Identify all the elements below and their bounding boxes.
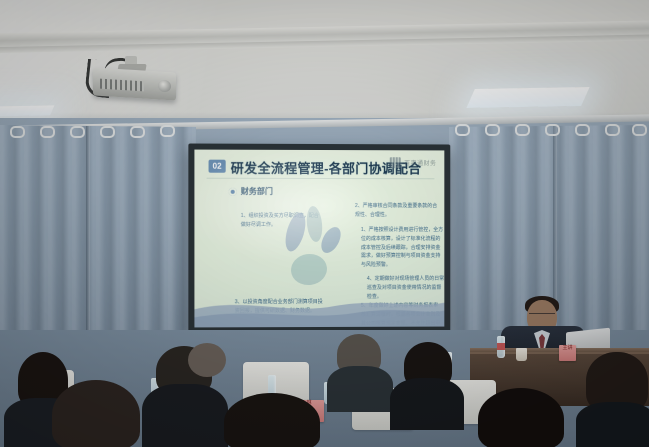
slide-text-right-2: 1、严格按照设计费用进行管控，全方位的成本核算，设计了标准化流程的成本管控及后续… [361, 226, 444, 277]
title-divider [207, 178, 435, 180]
audience-shoulders [142, 384, 228, 447]
slide-wave-footer [194, 293, 444, 328]
audience-head [478, 388, 564, 447]
audience-shoulders [390, 378, 464, 430]
slide-section-label: 财务部门 [241, 186, 273, 197]
slide-petal-graphic [194, 150, 444, 151]
paper-cup [516, 348, 527, 361]
podium-name-card: 主讲 [559, 345, 576, 361]
ceiling-light-panel-left [0, 105, 54, 116]
conference-room-photo: 02 研发全流程管理-各部门协调配合 百事通财务 财务部门 1、组织投资及买方尽… [0, 0, 649, 447]
slide-surface: 02 研发全流程管理-各部门协调配合 百事通财务 财务部门 1、组织投资及买方尽… [194, 150, 444, 328]
ceiling-light-panel-right [466, 87, 589, 108]
projector-lens-icon [158, 80, 171, 93]
logo-mark-icon [390, 157, 401, 168]
bullet-dot-icon [229, 187, 237, 195]
audience-head [188, 343, 226, 377]
audience-shoulders [576, 402, 649, 447]
audience-head [224, 393, 320, 447]
slide-text-right-1: 2、严格审核合同条款及重要条款的合规性、合理性。 [355, 202, 440, 227]
logo-text: 百事通财务 [404, 158, 436, 167]
company-logo: 百事通财务 [390, 157, 436, 168]
audience-shoulders [327, 366, 393, 412]
slide-section-bullet: 财务部门 [229, 186, 273, 197]
bottle-label [497, 343, 505, 350]
slide-section-badge: 02 [209, 160, 226, 173]
projection-screen: 02 研发全流程管理-各部门协调配合 百事通财务 财务部门 1、组织投资及买方尽… [188, 144, 450, 335]
glasses-icon [529, 313, 555, 320]
audience-head [52, 380, 140, 447]
